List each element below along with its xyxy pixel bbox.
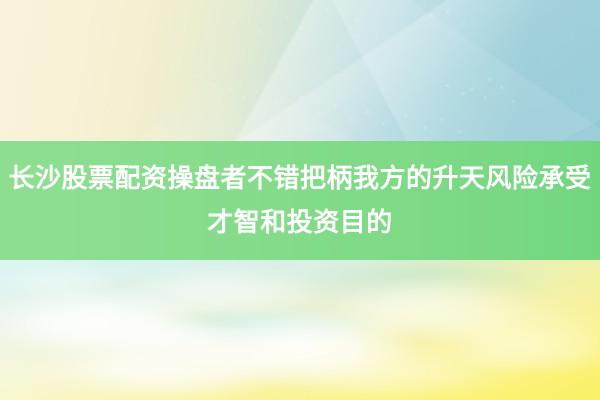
page-title-line-2: 才智和投资目的 [2,201,598,245]
sky-warm-tint [0,260,600,400]
texture-dots-icon [0,0,600,141]
polygon-facet-icon [0,0,600,141]
promo-banner: 长沙股票配资操盘者不错把柄我方的升天风险承受 才智和投资目的 [0,0,600,400]
polygon-facet-icon [0,0,600,141]
polygon-facet-icon [300,0,600,141]
page-title-line-1: 长沙股票配资操盘者不错把柄我方的升天风险承受 [2,157,598,201]
banner-bottom-background [0,260,600,400]
banner-top-background [0,0,600,141]
polygon-facet-icon [90,62,420,141]
headline-band: 长沙股票配资操盘者不错把柄我方的升天风险承受 才智和投资目的 [0,141,600,260]
polygon-facet-icon [235,0,600,141]
